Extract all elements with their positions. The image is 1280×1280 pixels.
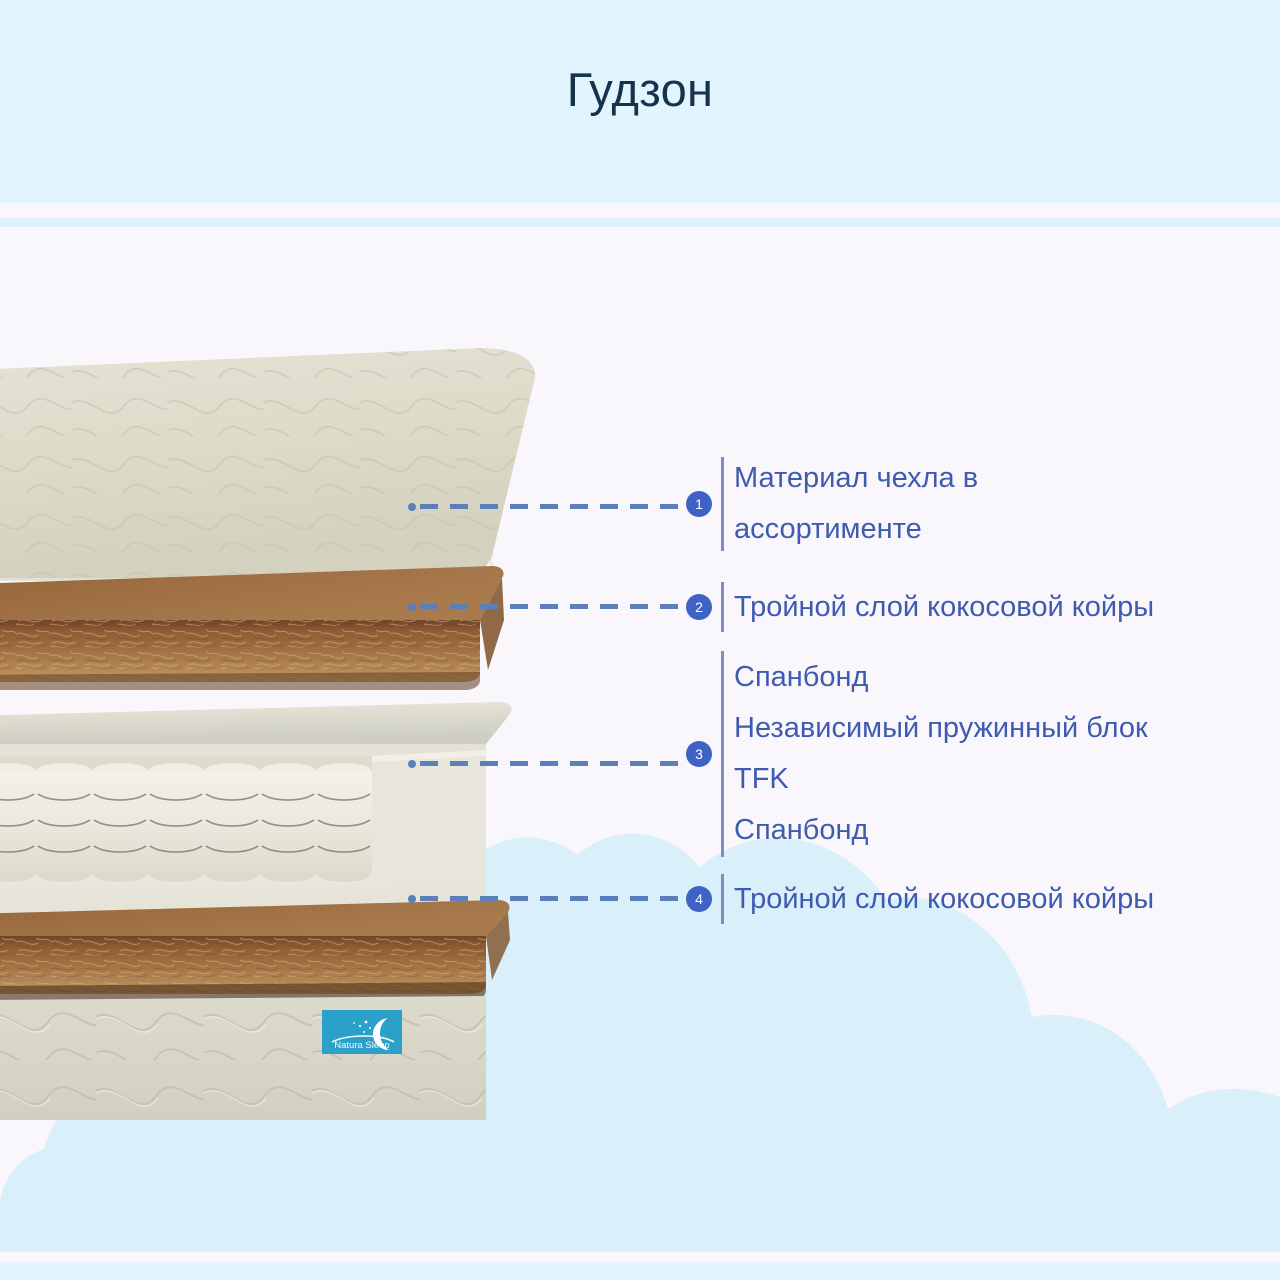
callout-4-label: Тройной слой кокосовой койры <box>734 874 1154 924</box>
leader-dot <box>408 603 416 611</box>
number-badge-3-icon: 3 <box>686 741 712 767</box>
callout-1[interactable]: 1 Материал чехла в ассортименте <box>686 457 978 551</box>
leader-dash <box>420 761 686 766</box>
leader-dash <box>420 896 686 901</box>
bottom-band <box>0 1262 1280 1280</box>
leader-line-4 <box>408 896 686 901</box>
leader-line-3 <box>408 761 686 766</box>
page-title: Гудзон <box>0 60 1280 120</box>
brand-badge: Natura Sleep <box>322 1010 402 1054</box>
leader-line-1 <box>408 504 686 509</box>
callout-2[interactable]: 2 Тройной слой кокосовой койры <box>686 582 1154 632</box>
leader-dot <box>408 760 416 768</box>
layer-cover-top <box>0 348 535 590</box>
callout-rule <box>721 457 724 551</box>
product-infographic: Гудзон <box>0 0 1280 1280</box>
leader-dot <box>408 503 416 511</box>
leader-dash <box>420 604 686 609</box>
layer-mattress-base: Natura Sleep <box>0 996 486 1120</box>
number-badge-4-icon: 4 <box>686 886 712 912</box>
leader-dash <box>420 504 686 509</box>
leader-dot <box>408 895 416 903</box>
mattress-cross-section-illustration: Natura Sleep <box>0 320 620 1120</box>
callout-3[interactable]: 3 Спанбонд Независимый пружинный блок TF… <box>686 651 1148 857</box>
number-badge-1-icon: 1 <box>686 491 712 517</box>
callout-3-label: Спанбонд Независимый пружинный блок TFK … <box>734 652 1148 856</box>
layer-coir-top <box>0 566 504 690</box>
bottom-white-rule <box>0 1252 1280 1262</box>
svg-text:Natura Sleep: Natura Sleep <box>334 1040 389 1051</box>
header-divider-rule <box>0 218 1280 227</box>
callout-rule <box>721 582 724 632</box>
leader-line-2 <box>408 604 686 609</box>
callout-rule <box>721 874 724 924</box>
layer-spring-block <box>0 702 512 914</box>
callout-1-label: Материал чехла в ассортименте <box>734 453 978 555</box>
callout-4[interactable]: 4 Тройной слой кокосовой койры <box>686 874 1154 924</box>
layer-coir-bottom <box>0 900 510 1000</box>
callout-2-label: Тройной слой кокосовой койры <box>734 582 1154 632</box>
callout-rule <box>721 651 724 857</box>
number-badge-2-icon: 2 <box>686 594 712 620</box>
